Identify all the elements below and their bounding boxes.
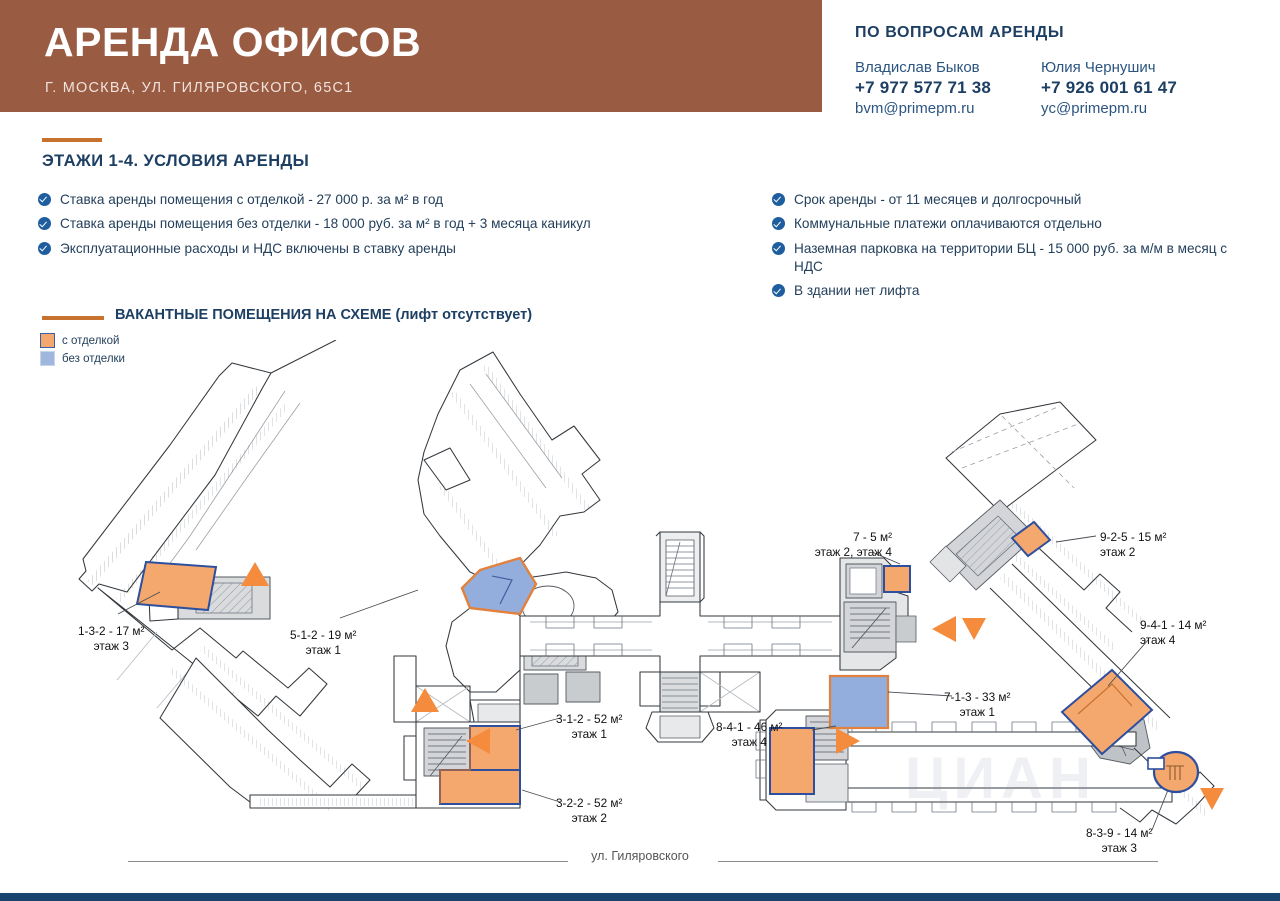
entrance-arrow-icon: [962, 618, 986, 640]
contact-card: Владислав Быков +7 977 577 71 38 bvm@pri…: [855, 58, 991, 118]
room-label-8-4-1: 8-4-1 - 46 м² этаж 4: [716, 720, 782, 751]
conditions-list-left: Ставка аренды помещения с отделкой - 27 …: [38, 191, 738, 264]
room-label-9-4-1: 9-4-1 - 14 м² этаж 4: [1140, 618, 1206, 649]
room-label-7-1-3: 7-1-3 - 33 м² этаж 1: [944, 690, 1010, 721]
list-item-label: Коммунальные платежи оплачиваются отдель…: [794, 215, 1102, 233]
room-label-line1: 3-2-2 - 52 м²: [556, 796, 622, 810]
room-1-3-2: [137, 562, 216, 610]
contact-phone[interactable]: +7 977 577 71 38: [855, 77, 991, 99]
contact-phone[interactable]: +7 926 001 61 47: [1041, 77, 1177, 99]
room-label-line1: 3-1-2 - 52 м²: [556, 712, 622, 726]
room-label-line1: 9-4-1 - 14 м²: [1140, 618, 1206, 632]
list-item: Ставка аренды помещения без отделки - 18…: [38, 215, 738, 233]
room-label-line2: этаж 4: [1140, 633, 1206, 648]
list-item: Срок аренды - от 11 месяцев и долгосрочн…: [772, 191, 1232, 209]
list-item: Наземная парковка на территории БЦ - 15 …: [772, 240, 1232, 277]
floor-plan[interactable]: 1-3-2 - 17 м² этаж 3 5-1-2 - 19 м² этаж …: [0, 340, 1280, 860]
room-3-2-2: [440, 770, 520, 804]
check-icon: [772, 193, 785, 206]
street-rule-left: [128, 861, 568, 862]
check-icon: [772, 242, 785, 255]
room-label-line2: этаж 4: [716, 735, 782, 750]
list-item-label: Наземная парковка на территории БЦ - 15 …: [794, 240, 1232, 277]
check-icon: [38, 242, 51, 255]
conditions-title: ЭТАЖИ 1-4. УСЛОВИЯ АРЕНДЫ: [42, 152, 309, 171]
legend-rule: [42, 316, 104, 320]
check-icon: [38, 193, 51, 206]
room-7: [884, 566, 910, 592]
page-address: Г. МОСКВА, УЛ. ГИЛЯРОВСКОГО, 65С1: [45, 80, 353, 96]
list-item: Коммунальные платежи оплачиваются отдель…: [772, 215, 1232, 233]
page-title: АРЕНДА ОФИСОВ: [44, 22, 421, 63]
contact-name: Владислав Быков: [855, 58, 991, 77]
entrance-arrow-icon: [241, 562, 269, 586]
contact-email[interactable]: bvm@primepm.ru: [855, 99, 991, 118]
room-label-9-2-5: 9-2-5 - 15 м² этаж 2: [1100, 530, 1166, 561]
list-item: В здании нет лифта: [772, 282, 1232, 300]
floor-plan-svg: [0, 340, 1280, 860]
entrance-arrow-icon: [1200, 788, 1224, 810]
room-label-line1: 7-1-3 - 33 м²: [944, 690, 1010, 704]
list-item-label: Эксплуатационные расходы и НДС включены …: [60, 240, 456, 258]
entrance-arrow-icon: [932, 616, 956, 642]
room-label-line1: 9-2-5 - 15 м²: [1100, 530, 1166, 544]
list-item-label: В здании нет лифта: [794, 282, 919, 300]
list-item-label: Ставка аренды помещения без отделки - 18…: [60, 215, 591, 233]
contact-card: Юлия Чернушич +7 926 001 61 47 yc@primep…: [1041, 58, 1177, 118]
contact-name: Юлия Чернушич: [1041, 58, 1177, 77]
room-label-line2: этаж 1: [290, 643, 356, 658]
contact-email[interactable]: yc@primepm.ru: [1041, 99, 1177, 118]
contacts-block: ПО ВОПРОСАМ АРЕНДЫ Владислав Быков +7 97…: [855, 24, 1265, 118]
room-label-line1: 5-1-2 - 19 м²: [290, 628, 356, 642]
room-3-1-2: [470, 726, 520, 770]
room-label-line2: этаж 3: [1086, 841, 1152, 856]
list-item-label: Срок аренды - от 11 месяцев и долгосрочн…: [794, 191, 1081, 209]
room-label-line2: этаж 1: [944, 705, 1010, 720]
list-item-label: Ставка аренды помещения с отделкой - 27 …: [60, 191, 443, 209]
check-icon: [772, 284, 785, 297]
list-item: Эксплуатационные расходы и НДС включены …: [38, 240, 738, 258]
street-rule-right: [718, 861, 1158, 862]
room-label-5-1-2: 5-1-2 - 19 м² этаж 1: [290, 628, 356, 659]
entrance-arrows: [241, 562, 1224, 810]
room-label-line2: этаж 3: [78, 639, 144, 654]
room-label-7: 7 - 5 м² этаж 2, этаж 4: [740, 530, 892, 561]
street-label: ул. Гиляровского: [579, 849, 701, 863]
room-label-line1: 7 - 5 м²: [853, 530, 892, 544]
room-label-line2: этаж 2: [556, 811, 622, 826]
conditions-list-right: Срок аренды - от 11 месяцев и долгосрочн…: [772, 191, 1232, 307]
section-rule: [42, 138, 102, 142]
check-icon: [38, 217, 51, 230]
legend-title: ВАКАНТНЫЕ ПОМЕЩЕНИЯ НА СХЕМЕ (лифт отсут…: [115, 307, 532, 323]
room-label-line1: 8-4-1 - 46 м²: [716, 720, 782, 734]
contacts-title: ПО ВОПРОСАМ АРЕНДЫ: [855, 24, 1265, 42]
room-label-3-2-2: 3-2-2 - 52 м² этаж 2: [556, 796, 622, 827]
room-label-8-3-9: 8-3-9 - 14 м² этаж 3: [1086, 826, 1152, 857]
room-7-1-3: [830, 676, 888, 728]
room-label-line2: этаж 2, этаж 4: [740, 545, 892, 560]
room-label-line1: 8-3-9 - 14 м²: [1086, 826, 1152, 840]
room-label-line1: 1-3-2 - 17 м²: [78, 624, 144, 638]
room-label-line2: этаж 2: [1100, 545, 1166, 560]
room-label-line2: этаж 1: [556, 727, 622, 742]
list-item: Ставка аренды помещения с отделкой - 27 …: [38, 191, 738, 209]
check-icon: [772, 217, 785, 230]
room-label-1-3-2: 1-3-2 - 17 м² этаж 3: [78, 624, 144, 655]
room-label-3-1-2: 3-1-2 - 52 м² этаж 1: [556, 712, 622, 743]
footer-bar: [0, 893, 1280, 901]
